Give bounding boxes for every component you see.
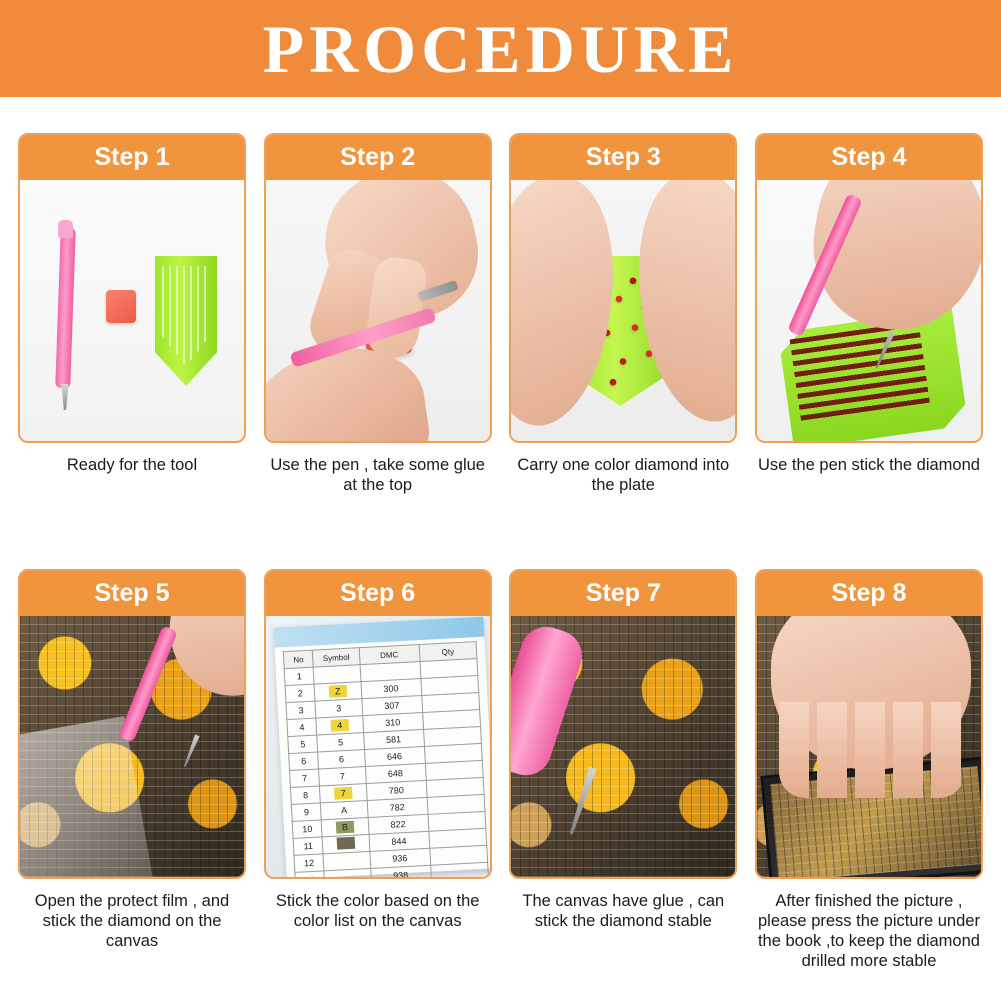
cell-no: 7 [289,769,319,788]
step-6-caption: Stick the color based on the color list … [264,891,492,931]
symbol-swatch [337,854,356,867]
step-4-frame: Step 4 [755,133,983,443]
cell-qty [430,862,488,877]
step-3-frame: Step 3 [509,133,737,443]
symbol-swatch: A [334,804,353,817]
procedure-infographic: PROCEDURE Step 1 R [0,0,1001,1001]
step-3-photo [511,180,735,441]
step-card-1: Step 1 Ready for the tool [18,133,246,495]
symbol-swatch: 3 [329,702,348,715]
step-4-header: Step 4 [757,135,981,180]
cell-no: 4 [287,718,317,737]
step-7-photo [511,616,735,877]
step-3-caption: Carry one color diamond into the plate [509,455,737,495]
cell-no: 10 [292,820,322,839]
cell-no: 2 [285,684,315,703]
symbol-swatch: B [335,821,354,834]
fingers-icon [779,702,965,798]
col-no: No [283,650,313,669]
cell-no: 13 [295,871,325,877]
step-5-photo [20,616,244,877]
color-list-sheet: No Symbol DMC Qty 1 2Z300 33307 44310 [273,617,489,877]
step-7-caption: The canvas have glue , can stick the dia… [509,891,737,931]
step-1-header: Step 1 [20,135,244,180]
cell-no: 12 [294,854,324,873]
cell-no: 11 [293,837,323,856]
steps-row-2: Step 5 Open the protect film , and stick… [0,569,1001,972]
step-card-4: Step 4 Use the pen stick the diamond [755,133,983,495]
symbol-swatch: 5 [331,736,350,749]
step-card-8: Step 8 After finished the picture , plea… [755,569,983,972]
step-7-header: Step 7 [511,571,735,616]
steps-row-1: Step 1 Ready for the tool Ste [0,133,1001,495]
step-8-caption: After finished the picture , please pres… [755,891,983,972]
steps-grid: Step 1 Ready for the tool Ste [0,97,1001,1001]
symbol-swatch [327,667,346,680]
step-card-7: Step 7 The canvas have glue , can stick … [509,569,737,972]
step-6-frame: Step 6 No Symbol DMC [264,569,492,879]
color-symbol-table: No Symbol DMC Qty 1 2Z300 33307 44310 [282,641,487,871]
step-2-caption: Use the pen , take some glue at the top [264,455,492,495]
symbol-swatch [338,871,357,877]
step-8-frame: Step 8 [755,569,983,879]
step-5-header: Step 5 [20,571,244,616]
step-5-frame: Step 5 [18,569,246,879]
step-4-photo [757,180,981,441]
symbol-swatch: 6 [332,753,351,766]
step-1-photo [20,180,244,441]
step-1-frame: Step 1 [18,133,246,443]
symbol-swatch: 4 [330,719,349,732]
chart-table: No Symbol DMC Qty 1 2Z300 33307 44310 [282,641,489,877]
symbol-swatch: Z [328,685,347,698]
step-5-caption: Open the protect film , and stick the di… [18,891,246,951]
step-6-header: Step 6 [266,571,490,616]
step-7-frame: Step 7 [509,569,737,879]
step-8-photo [757,616,981,877]
symbol-swatch: 7 [333,770,352,783]
step-4-caption: Use the pen stick the diamond [755,455,983,475]
step-8-header: Step 8 [757,571,981,616]
cell-symbol [324,868,371,877]
step-2-header: Step 2 [266,135,490,180]
step-3-header: Step 3 [511,135,735,180]
step-card-2: Step 2 Use the pen , take some glue at t… [264,133,492,495]
step-2-frame: Step 2 [264,133,492,443]
page-title: PROCEDURE [263,15,739,83]
cell-no: 9 [291,803,321,822]
header-banner: PROCEDURE [0,0,1001,97]
pen-cap-icon [58,220,73,238]
cell-dmc: 938 [370,865,431,877]
step-2-photo [266,180,490,441]
step-card-5: Step 5 Open the protect film , and stick… [18,569,246,972]
cell-no: 6 [288,752,318,771]
step-6-photo: No Symbol DMC Qty 1 2Z300 33307 44310 [266,616,490,877]
cell-no: 3 [286,701,316,720]
glue-square-icon [106,290,136,323]
step-card-3: Step 3 Carry one color diamond into the … [509,133,737,495]
step-card-6: Step 6 No Symbol DMC [264,569,492,972]
aligned-diamond-rows [790,321,931,424]
symbol-swatch [336,837,355,850]
symbol-swatch: 7 [334,787,353,800]
cell-no: 1 [284,667,314,686]
cell-no: 5 [287,735,317,754]
cell-no: 8 [290,786,320,805]
step-1-caption: Ready for the tool [18,455,246,476]
